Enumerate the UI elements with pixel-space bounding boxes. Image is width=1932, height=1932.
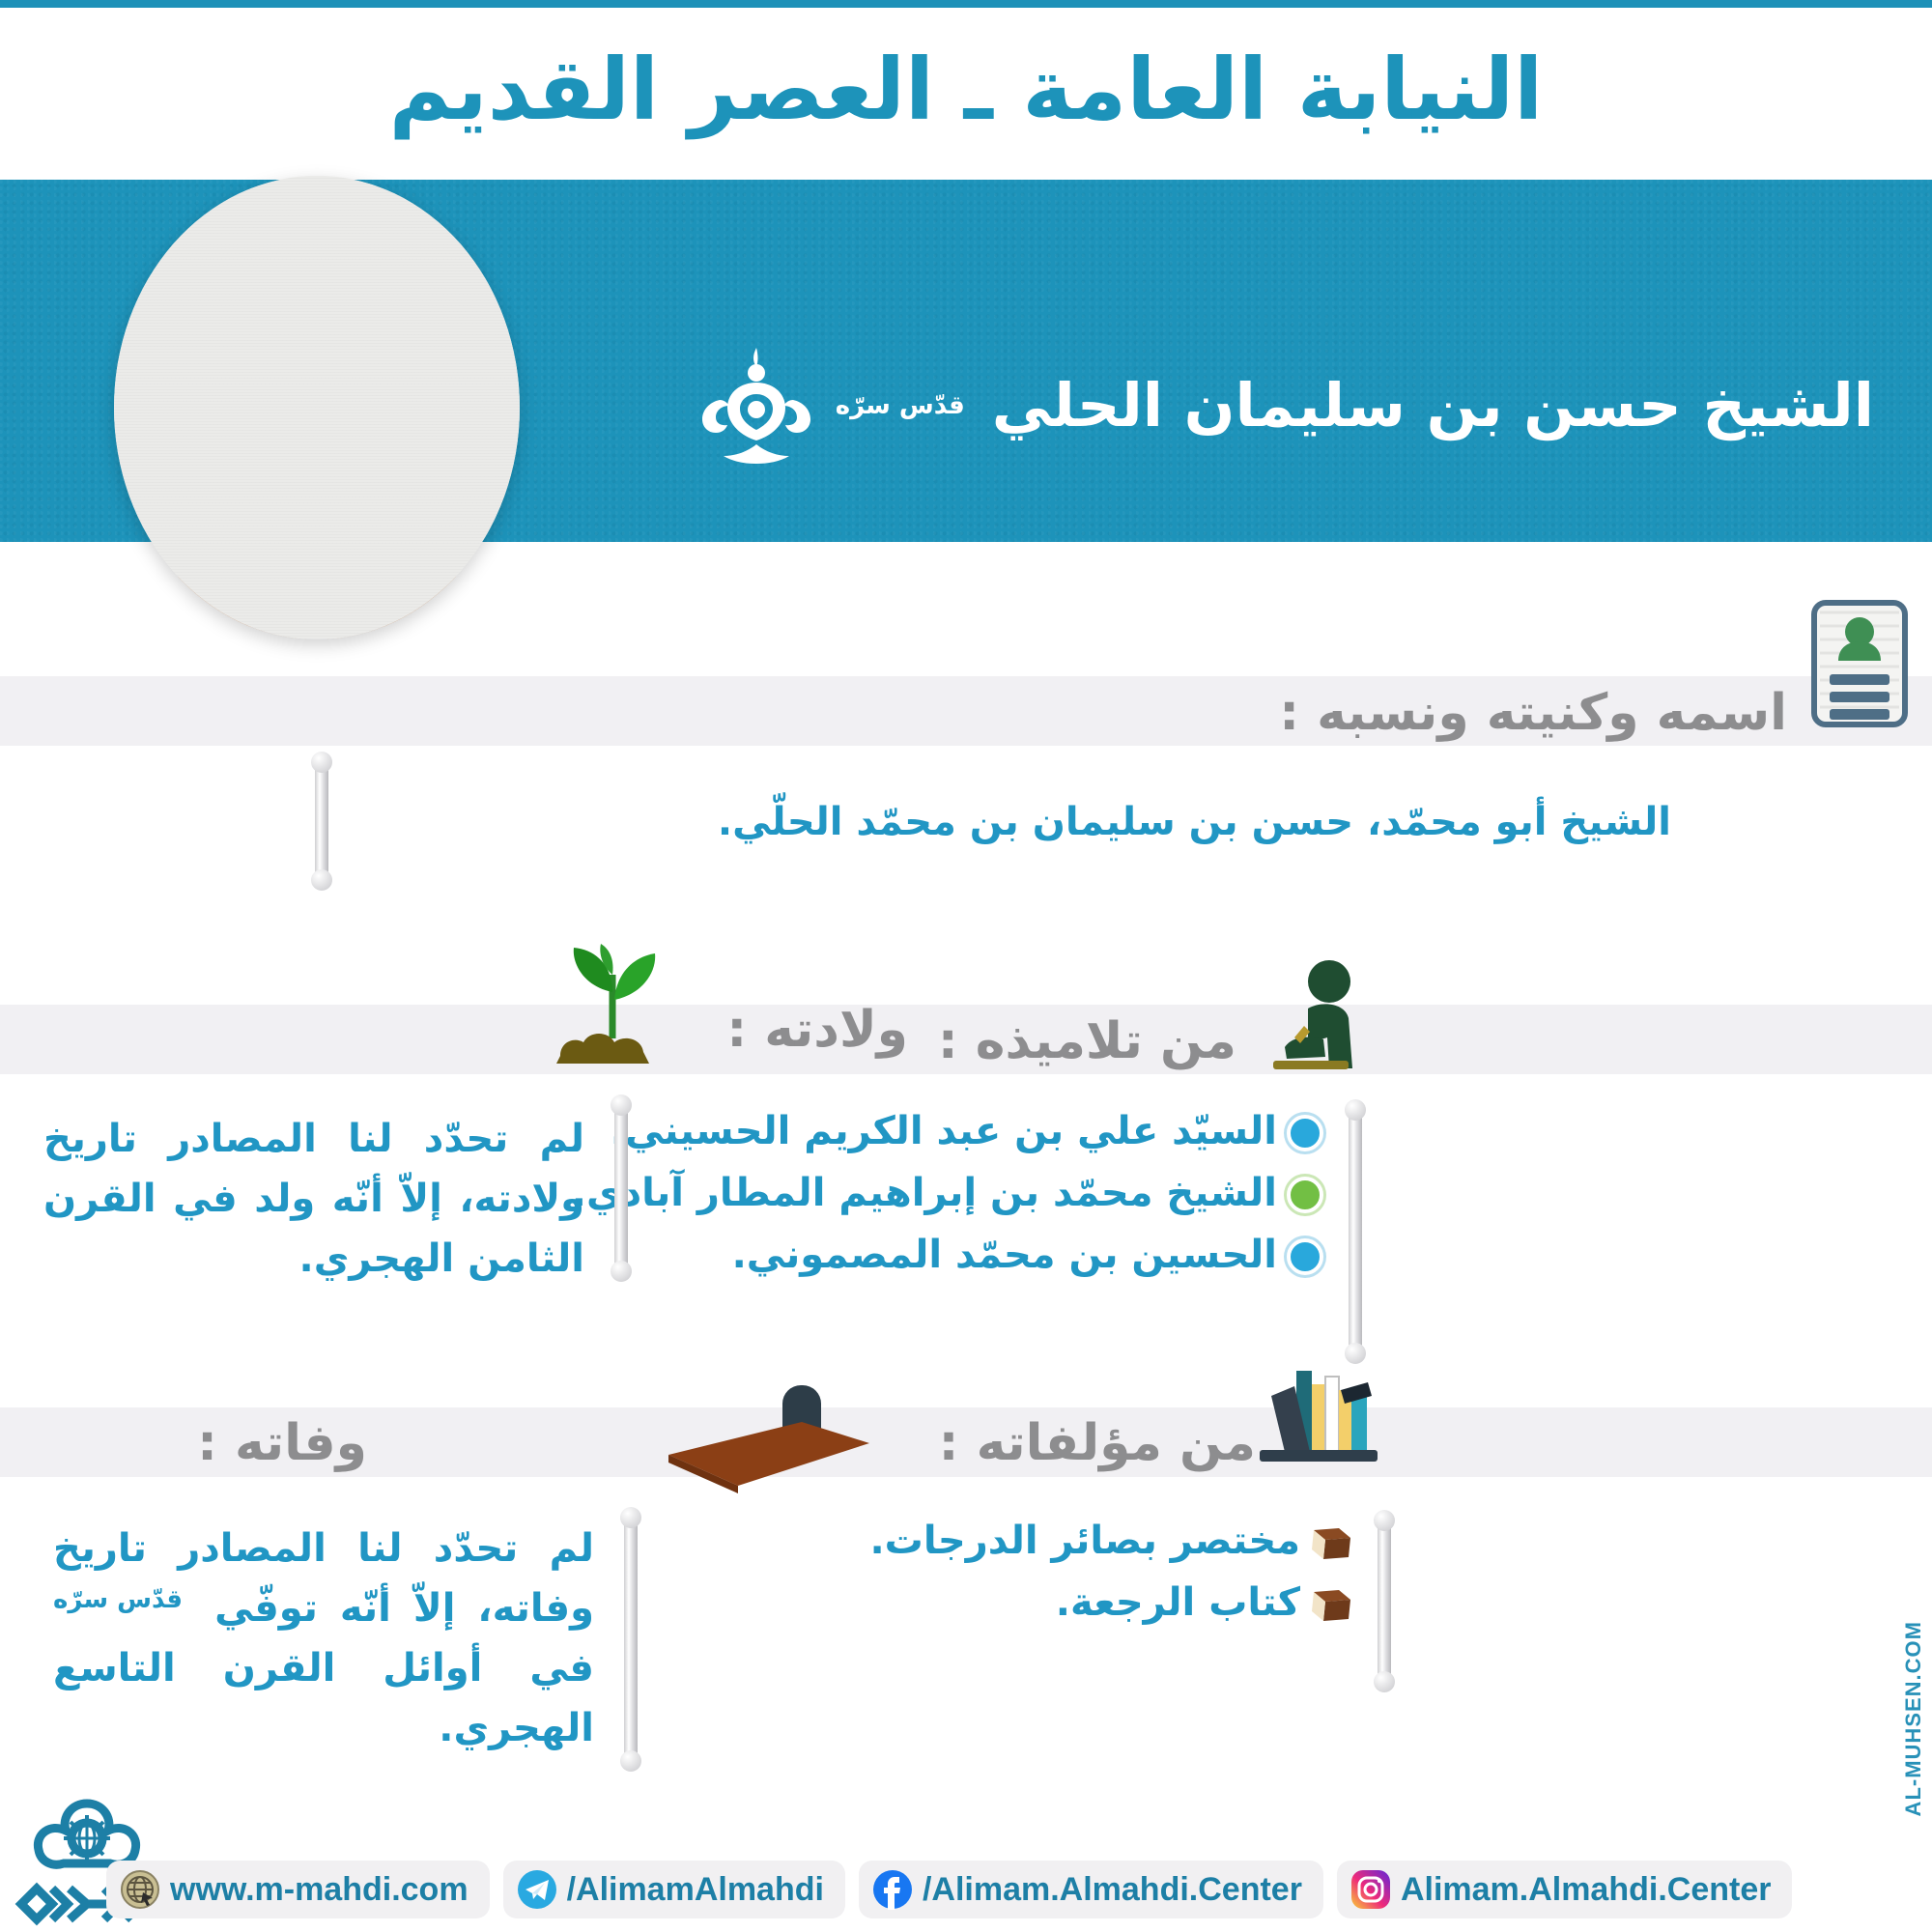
- divider-rod: [1378, 1521, 1391, 1681]
- instagram-icon: [1350, 1869, 1391, 1910]
- facebook-link[interactable]: /Alimam.Almahdi.Center: [859, 1861, 1323, 1918]
- telegram-link[interactable]: /AlimamAlmahdi: [503, 1861, 845, 1918]
- divider-rod: [614, 1106, 628, 1270]
- facebook-label: /Alimam.Almahdi.Center: [923, 1871, 1302, 1909]
- divider-rod: [624, 1519, 638, 1760]
- birth-section-text: لم تحدّد لنا المصادر تاريخ ولادته، إلاّ …: [43, 1109, 584, 1289]
- bullet-icon: [1287, 1115, 1323, 1151]
- student-name: السيّد علي بن عبد الكريم الحسيني.: [611, 1109, 1277, 1153]
- book-icon: [1310, 1588, 1352, 1623]
- website-label: www.m-mahdi.com: [170, 1871, 469, 1909]
- work-title: كتاب الرجعة.: [1056, 1580, 1300, 1625]
- students-section-title: من تلاميذه :: [938, 1016, 1236, 1066]
- bullet-icon: [1287, 1177, 1323, 1213]
- footer: www.m-mahdi.com /AlimamAlmahdi /Alimam.A…: [0, 1816, 1932, 1932]
- list-item: كتاب الرجعة.: [483, 1580, 1352, 1625]
- globe-icon: [120, 1869, 160, 1910]
- website-link[interactable]: www.m-mahdi.com: [106, 1861, 490, 1918]
- sprout-icon: [541, 942, 686, 1072]
- telegram-icon: [517, 1869, 557, 1910]
- list-item: الحسين بن محمّد المصموني.: [454, 1233, 1323, 1277]
- sheikh-name-row: الشيخ حسن بن سليمان الحلي قدّس سرّه: [695, 344, 1874, 468]
- telegram-label: /AlimamAlmahdi: [567, 1871, 824, 1909]
- name-section-title: اسمه وكنيته ونسبه :: [1279, 688, 1787, 738]
- infographic-page: النيابة العامة ـ العصر القديم الشيخ حسن …: [0, 0, 1932, 1932]
- id-card-icon: [1806, 597, 1913, 732]
- death-text-after: في أوائل القرن التاسع الهجري.: [53, 1646, 594, 1750]
- works-section-title: من مؤلفاته :: [939, 1418, 1256, 1468]
- death-section-title: وفاته :: [197, 1418, 367, 1468]
- honorific-label: قدّس سرّه: [836, 391, 965, 420]
- book-icon: [1310, 1526, 1352, 1561]
- list-item: مختصر بصائر الدرجات.: [483, 1519, 1352, 1563]
- grave-icon: [647, 1372, 889, 1497]
- bullet-icon: [1287, 1238, 1323, 1275]
- death-section-text: لم تحدّد لنا المصادر تاريخ وفاته، إلاّ أ…: [53, 1519, 594, 1758]
- portrait: [114, 176, 520, 639]
- works-list: مختصر بصائر الدرجات. كتاب الرجعة.: [483, 1519, 1352, 1642]
- social-links: www.m-mahdi.com /AlimamAlmahdi /Alimam.A…: [106, 1861, 1792, 1918]
- portrait-paper-texture: [114, 176, 520, 639]
- work-title: مختصر بصائر الدرجات.: [869, 1519, 1300, 1563]
- watermark: AL-MUHSEN.COM: [1901, 1621, 1926, 1816]
- islamic-ornament-icon: [695, 344, 818, 468]
- watermark-text: AL-MUHSEN.COM: [1901, 1621, 1925, 1816]
- portrait-circle: [114, 176, 520, 639]
- divider-rod: [1349, 1111, 1362, 1352]
- title-band: النيابة العامة ـ العصر القديم: [0, 8, 1932, 180]
- seated-student-icon: [1244, 954, 1370, 1080]
- divider-rod: [315, 763, 328, 879]
- name-section-text: الشيخ أبو محمّد، حسن بن سليمان بن محمّد …: [338, 792, 1671, 852]
- page-title: النيابة العامة ـ العصر القديم: [389, 47, 1544, 140]
- instagram-link[interactable]: Alimam.Almahdi.Center: [1337, 1861, 1793, 1918]
- student-name: الحسين بن محمّد المصموني.: [732, 1233, 1277, 1277]
- list-item: الشيخ محمّد بن إبراهيم المطار آبادي.: [454, 1171, 1323, 1215]
- birth-section-title: ولادته :: [726, 1005, 908, 1055]
- top-accent-bar: [0, 0, 1932, 8]
- student-name: الشيخ محمّد بن إبراهيم المطار آبادي.: [572, 1171, 1277, 1215]
- list-item: السيّد علي بن عبد الكريم الحسيني.: [454, 1109, 1323, 1153]
- instagram-label: Alimam.Almahdi.Center: [1401, 1871, 1772, 1909]
- bookshelf-icon: [1246, 1348, 1391, 1473]
- facebook-icon: [872, 1869, 913, 1910]
- sheikh-name: الشيخ حسن بن سليمان الحلي: [992, 376, 1874, 436]
- honorific-label: قدّس سرّه: [53, 1580, 183, 1619]
- students-list: السيّد علي بن عبد الكريم الحسيني. الشيخ …: [454, 1109, 1323, 1294]
